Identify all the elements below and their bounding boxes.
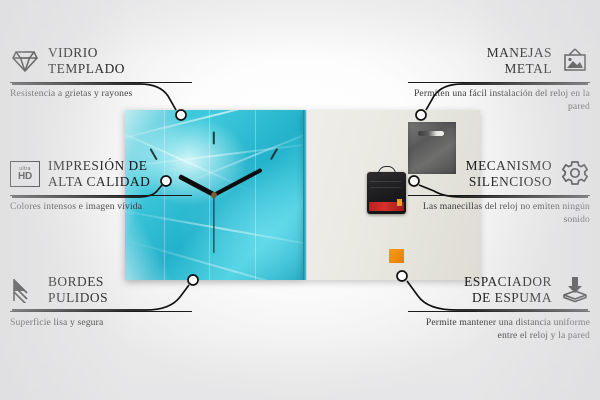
- feature-description: Resistencia a grietas y rayones: [10, 88, 192, 101]
- feature-title: MECANISMO SILENCIOSO: [466, 158, 552, 189]
- feature-header: ESPACIADOR DE ESPUMA: [408, 273, 590, 307]
- feature-manejas-metal: MANEJAS METAL Permiten una fácil instala…: [408, 44, 590, 114]
- divider: [10, 82, 192, 83]
- divider: [10, 195, 192, 196]
- feature-espaciador-espuma: ESPACIADOR DE ESPUMA Permite mantener un…: [408, 273, 590, 343]
- feature-header: MANEJAS METAL: [408, 44, 590, 78]
- feature-description: Superficie lisa y segura: [10, 317, 192, 330]
- divider: [408, 311, 590, 312]
- feature-bordes-pulidos: BORDES PULIDOS Superficie lisa y segura: [10, 273, 192, 330]
- gear-icon: [560, 159, 590, 189]
- feature-title: ESPACIADOR DE ESPUMA: [464, 274, 552, 305]
- divider: [408, 195, 590, 196]
- feature-vidrio-templado: VIDRIO TEMPLADO Resistencia a grietas y …: [10, 44, 192, 101]
- feature-title: MANEJAS METAL: [487, 45, 552, 76]
- feature-title: VIDRIO TEMPLADO: [48, 45, 125, 76]
- divider: [408, 82, 590, 83]
- battery: [369, 202, 404, 211]
- feature-impresion-alta-calidad: ultra HD IMPRESIÓN DE ALTA CALIDAD Color…: [10, 157, 192, 214]
- feature-header: ultra HD IMPRESIÓN DE ALTA CALIDAD: [10, 157, 192, 191]
- polished-edges-icon: [10, 275, 40, 305]
- feature-title: BORDES PULIDOS: [48, 274, 108, 305]
- clock-movement: [367, 172, 406, 214]
- foam-spacer: [389, 249, 404, 263]
- foam-spacer-icon: [560, 275, 590, 305]
- divider: [10, 311, 192, 312]
- picture-frame-icon: [560, 46, 590, 76]
- feature-header: MECANISMO SILENCIOSO: [408, 157, 590, 191]
- feature-description: Las manecillas del reloj no emiten ningú…: [408, 201, 590, 226]
- feature-description: Permite mantener una distancia uniforme …: [408, 317, 590, 342]
- ultra-hd-icon: ultra HD: [10, 159, 40, 189]
- infographic-canvas: VIDRIO TEMPLADO Resistencia a grietas y …: [0, 0, 600, 400]
- feature-header: BORDES PULIDOS: [10, 273, 192, 307]
- clock-center-cap: [211, 192, 217, 198]
- diamond-icon: [10, 46, 40, 76]
- feature-mecanismo-silencioso: MECANISMO SILENCIOSO Las manecillas del …: [408, 157, 590, 227]
- feature-title: IMPRESIÓN DE ALTA CALIDAD: [48, 158, 150, 189]
- ultra-hd-main-label: HD: [18, 172, 32, 182]
- feature-description: Colores intensos e imagen vívida: [10, 201, 192, 214]
- feature-description: Permiten una fácil instalación del reloj…: [408, 88, 590, 113]
- clock-second-hand: [213, 195, 214, 253]
- feature-header: VIDRIO TEMPLADO: [10, 44, 192, 78]
